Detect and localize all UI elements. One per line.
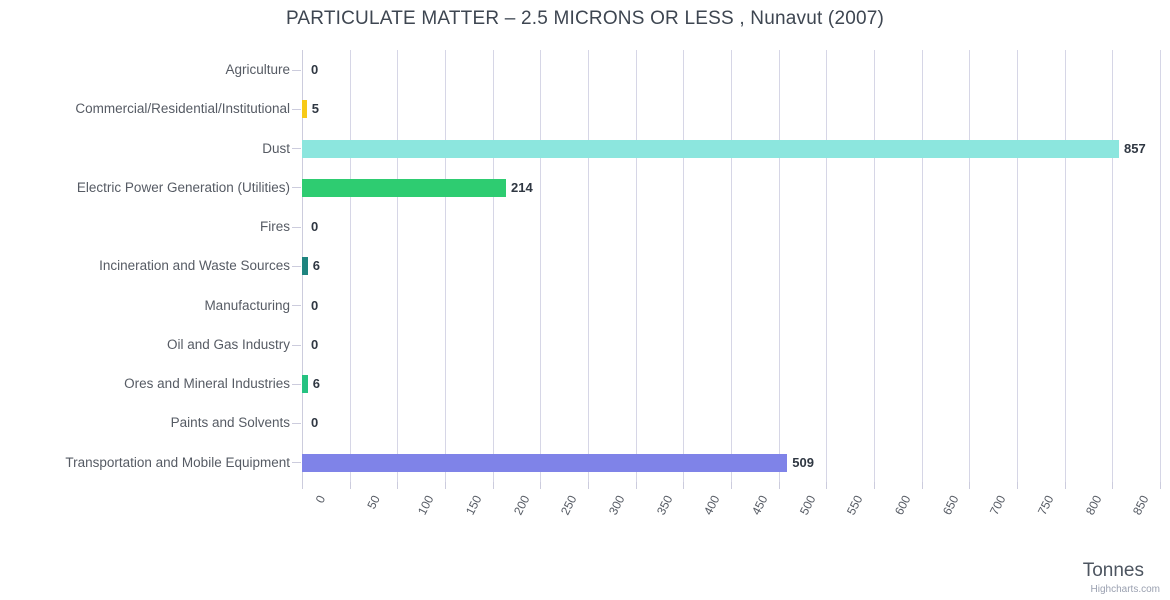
bar[interactable] [302,454,787,472]
bar-row: 509 [302,443,1160,482]
x-axis-tick [445,482,446,489]
bar-data-label: 857 [1119,140,1146,158]
y-axis-tick [292,305,301,306]
x-axis-tick [1112,482,1113,489]
x-axis-tick [683,482,684,489]
y-axis-label: Commercial/Residential/Institutional [0,89,290,128]
y-axis-category-labels: AgricultureCommercial/Residential/Instit… [0,50,290,482]
x-axis-tick-label: 500 [797,493,819,517]
bar-row: 6 [302,364,1160,403]
x-axis-tick-label: 150 [463,493,485,517]
x-axis-tick-label: 800 [1083,493,1105,517]
x-axis-tick-label: 0 [313,493,329,505]
bar-data-label: 6 [308,375,320,393]
bar-data-label: 0 [306,336,318,354]
x-axis: 0501001502002503003504004505005506006507… [302,482,1160,542]
x-axis-tick [302,482,303,489]
y-axis-tick [292,70,301,71]
x-axis-tick-label: 250 [558,493,580,517]
x-axis-tick [1017,482,1018,489]
x-axis-tick-label: 100 [415,493,437,517]
gridline [1160,50,1161,482]
bar-row: 6 [302,246,1160,285]
x-axis-tick-label: 650 [940,493,962,517]
credits-label: Highcharts.com [1091,584,1160,595]
y-axis-label: Oil and Gas Industry [0,325,290,364]
y-axis-label: Agriculture [0,50,290,89]
y-axis-label: Paints and Solvents [0,403,290,442]
bar-row: 0 [302,50,1160,89]
x-axis-tick [1160,482,1161,489]
bar-row: 857 [302,129,1160,168]
bar-row: 214 [302,168,1160,207]
bar-data-label: 0 [306,297,318,315]
x-axis-tick [969,482,970,489]
y-axis-label: Fires [0,207,290,246]
y-axis-label: Ores and Mineral Industries [0,364,290,403]
y-axis-tick [292,423,301,424]
x-axis-title: Tonnes [1083,560,1144,582]
x-axis-tick-label: 600 [892,493,914,517]
bar-data-label: 5 [307,100,319,118]
x-axis-tick-label: 700 [987,493,1009,517]
x-axis-tick-label: 200 [511,493,533,517]
bar-data-label: 509 [787,454,814,472]
x-axis-tick-label: 850 [1130,493,1152,517]
bar-row: 0 [302,325,1160,364]
bar-row: 0 [302,286,1160,325]
x-axis-tick [1065,482,1066,489]
x-axis-tick [493,482,494,489]
y-axis-label: Electric Power Generation (Utilities) [0,168,290,207]
x-axis-tick [636,482,637,489]
y-axis-tick [292,266,301,267]
x-axis-tick-label: 300 [606,493,628,517]
bar[interactable] [302,140,1119,158]
y-axis-tick [292,462,301,463]
x-axis-tick-label: 400 [701,493,723,517]
y-axis-label: Incineration and Waste Sources [0,246,290,285]
x-axis-tick [588,482,589,489]
bar-data-label: 6 [308,257,320,275]
bar-data-label: 0 [306,218,318,236]
x-axis-tick [350,482,351,489]
bar-row: 5 [302,89,1160,128]
x-axis-tick-label: 550 [844,493,866,517]
x-axis-tick-label: 450 [749,493,771,517]
y-axis-tick [292,384,301,385]
x-axis-tick [731,482,732,489]
y-axis-tick [292,187,301,188]
x-axis-tick [922,482,923,489]
bar-row: 0 [302,403,1160,442]
bar-data-label: 0 [306,61,318,79]
x-axis-tick [874,482,875,489]
plot-area: 05857214060060509 [302,50,1160,482]
x-axis-tick-label: 750 [1035,493,1057,517]
y-axis-tick [292,345,301,346]
chart-container: PARTICULATE MATTER – 2.5 MICRONS OR LESS… [0,0,1170,600]
y-axis-tick [292,109,301,110]
y-axis-label: Transportation and Mobile Equipment [0,443,290,482]
y-axis-label: Manufacturing [0,286,290,325]
x-axis-tick [540,482,541,489]
x-axis-tick-label: 50 [364,493,383,511]
y-axis-label: Dust [0,129,290,168]
bar-data-label: 0 [306,414,318,432]
y-axis-tick [292,148,301,149]
x-axis-tick [397,482,398,489]
page-title: PARTICULATE MATTER – 2.5 MICRONS OR LESS… [0,8,1170,30]
x-axis-tick-label: 350 [654,493,676,517]
bar[interactable] [302,179,506,197]
y-axis-tick [292,227,301,228]
x-axis-tick [826,482,827,489]
bar-data-label: 214 [506,179,533,197]
bar-row: 0 [302,207,1160,246]
x-axis-tick [779,482,780,489]
